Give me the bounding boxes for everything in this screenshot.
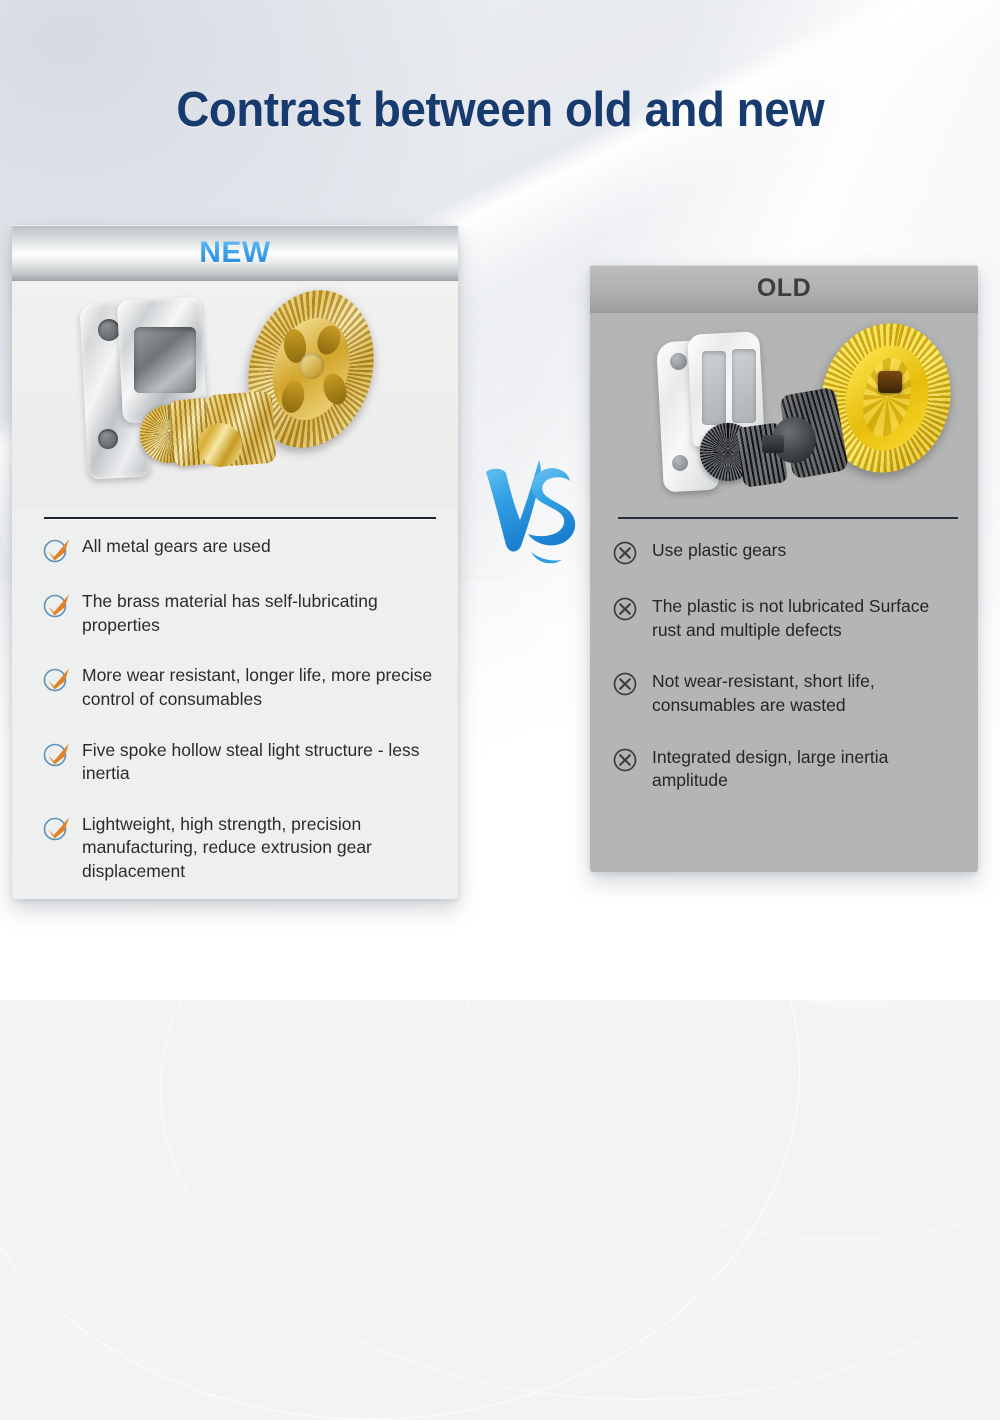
- cross-circle-icon: [612, 671, 642, 699]
- list-item-text: More wear resistant, longer life, more p…: [82, 664, 440, 711]
- card-header-label-new: NEW: [199, 236, 271, 270]
- bracket-window: [134, 327, 196, 393]
- check-circle-icon: [42, 740, 72, 768]
- list-item: Lightweight, high strength, precision ma…: [42, 813, 440, 884]
- list-item: Integrated design, large inertia amplitu…: [612, 746, 962, 793]
- card-header-old: OLD: [590, 265, 978, 313]
- check-circle-icon: [42, 665, 72, 693]
- yellow-gear-set-screw: [878, 371, 902, 393]
- versus-icon: [476, 448, 586, 568]
- cross-circle-icon: [612, 596, 642, 624]
- list-item-text: Integrated design, large inertia amplitu…: [652, 746, 962, 793]
- bracket-bore-bottom: [98, 429, 118, 449]
- cross-circle-icon: [612, 747, 642, 775]
- feature-list-old: Use plastic gears The plastic is not lub…: [590, 519, 978, 793]
- versus-stroke-tail: [531, 552, 562, 563]
- page-title: Contrast between old and new: [0, 82, 1000, 138]
- versus-badge: [476, 448, 586, 568]
- gear-hub: [300, 353, 324, 379]
- product-image-old: [590, 313, 978, 513]
- card-header-new: NEW: [12, 225, 458, 281]
- check-circle-icon: [42, 536, 72, 564]
- versus-letter-s: [528, 468, 575, 545]
- check-circle-icon: [42, 591, 72, 619]
- bracket-bore-top: [98, 319, 120, 341]
- list-item: Not wear-resistant, short life, consumab…: [612, 670, 962, 717]
- list-item-text: Use plastic gears: [652, 539, 786, 563]
- feature-list-new: All metal gears are used The brass mater…: [12, 519, 458, 884]
- list-item: All metal gears are used: [42, 535, 440, 563]
- list-item: The brass material has self-lubricating …: [42, 590, 440, 637]
- list-item: More wear resistant, longer life, more p…: [42, 664, 440, 711]
- plastic-bracket-bore-bottom: [672, 455, 688, 471]
- comparison-card-new: NEW Al: [12, 225, 458, 899]
- bracket-slot-left: [702, 351, 726, 425]
- list-item-text: The plastic is not lubricated Surface ru…: [652, 595, 962, 642]
- comparison-card-old: OLD Use pla: [590, 265, 978, 872]
- list-item-text: Five spoke hollow steal light structure …: [82, 739, 440, 786]
- list-item-text: Not wear-resistant, short life, consumab…: [652, 670, 962, 717]
- plastic-bracket-bore-top: [670, 353, 687, 370]
- black-gear-shaft-end: [762, 435, 784, 453]
- brass-shaft-collar: [198, 423, 242, 467]
- list-item: Five spoke hollow steal light structure …: [42, 739, 440, 786]
- list-item-text: The brass material has self-lubricating …: [82, 590, 440, 637]
- page-title-text: Contrast between old and new: [176, 82, 824, 138]
- list-item: The plastic is not lubricated Surface ru…: [612, 595, 962, 642]
- list-item-text: All metal gears are used: [82, 535, 271, 559]
- product-image-new: [12, 281, 458, 509]
- card-header-label-old: OLD: [757, 274, 811, 303]
- list-item: Use plastic gears: [612, 539, 962, 567]
- check-circle-icon: [42, 814, 72, 842]
- bracket-slot-right: [732, 349, 756, 423]
- cross-circle-icon: [612, 540, 642, 568]
- list-item-text: Lightweight, high strength, precision ma…: [82, 813, 440, 884]
